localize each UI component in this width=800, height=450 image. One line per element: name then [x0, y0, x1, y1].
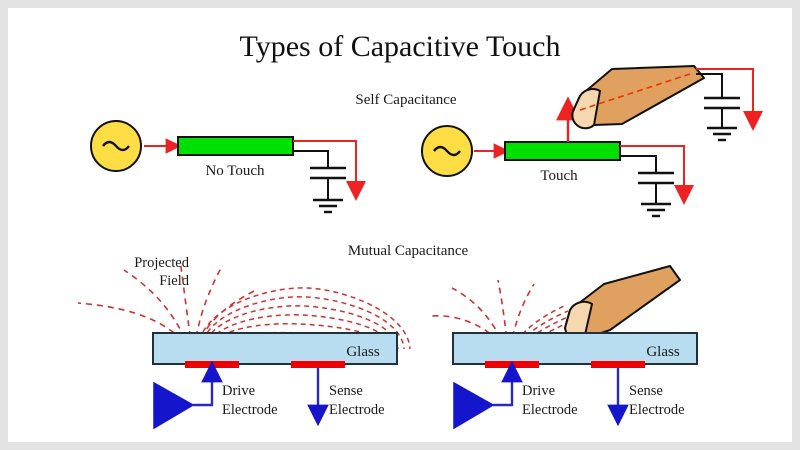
electrode-bar — [178, 137, 293, 155]
glass-label: Glass — [346, 344, 379, 360]
section-heading-mutual: Mutual Capacitance — [348, 243, 469, 259]
ground-icon — [313, 200, 343, 212]
sense-electrode-bar — [591, 361, 645, 368]
wire-electrode-to-cap — [293, 151, 328, 168]
field-return-arrow-bottom — [620, 146, 684, 192]
sense-electrode-bar — [291, 361, 345, 368]
amplifier-triangle-icon — [454, 383, 493, 428]
section-heading-self: Self Capacitance — [355, 92, 457, 108]
drive-label-line1: Drive — [522, 383, 555, 399]
finger-icon — [572, 66, 704, 128]
capacitor-icon — [704, 98, 740, 108]
drive-wire — [193, 374, 212, 405]
drive-label-line1: Drive — [222, 383, 255, 399]
finger-icon — [565, 266, 680, 340]
wire-electrode-to-cap — [620, 156, 656, 173]
drive-label-line2: Electrode — [222, 402, 278, 418]
state-label-no-touch: No Touch — [205, 163, 265, 179]
amplifier-triangle-icon — [154, 383, 193, 428]
state-label-touch: Touch — [540, 168, 578, 184]
diagram-touch: Touch — [422, 66, 753, 216]
sense-label-line1: Sense — [329, 383, 363, 399]
diagram-no-touch: No Touch — [91, 121, 356, 212]
ground-icon — [641, 204, 671, 216]
capacitor-icon — [310, 168, 346, 178]
drive-wire — [493, 374, 512, 405]
slide-page: Types of Capacitive Touch Self Capacitan… — [8, 8, 792, 442]
glass-label: Glass — [646, 344, 679, 360]
electrode-bar — [505, 142, 620, 160]
ac-source — [422, 126, 472, 176]
page-title: Types of Capacitive Touch — [240, 30, 561, 63]
drive-electrode-bar — [485, 361, 539, 368]
field-return-arrow-top — [696, 69, 753, 118]
drive-electrode-bar — [185, 361, 239, 368]
diagram-mutual-touch: Glass Drive Electrode Sense Electrode — [431, 266, 697, 428]
sense-label-line1: Sense — [629, 383, 663, 399]
sense-label-line2: Electrode — [329, 402, 385, 418]
ground-icon — [707, 128, 737, 140]
capacitive-touch-diagram: Types of Capacitive Touch Self Capacitan… — [8, 8, 792, 442]
field-return-arrow — [293, 141, 356, 188]
sense-label-line2: Electrode — [629, 402, 685, 418]
ac-source — [91, 121, 141, 171]
capacitor-icon — [638, 173, 674, 183]
drive-label-line2: Electrode — [522, 402, 578, 418]
diagram-mutual-no-touch: Projected Field Glass — [78, 255, 410, 428]
projected-field-label-line2: Field — [159, 273, 190, 289]
